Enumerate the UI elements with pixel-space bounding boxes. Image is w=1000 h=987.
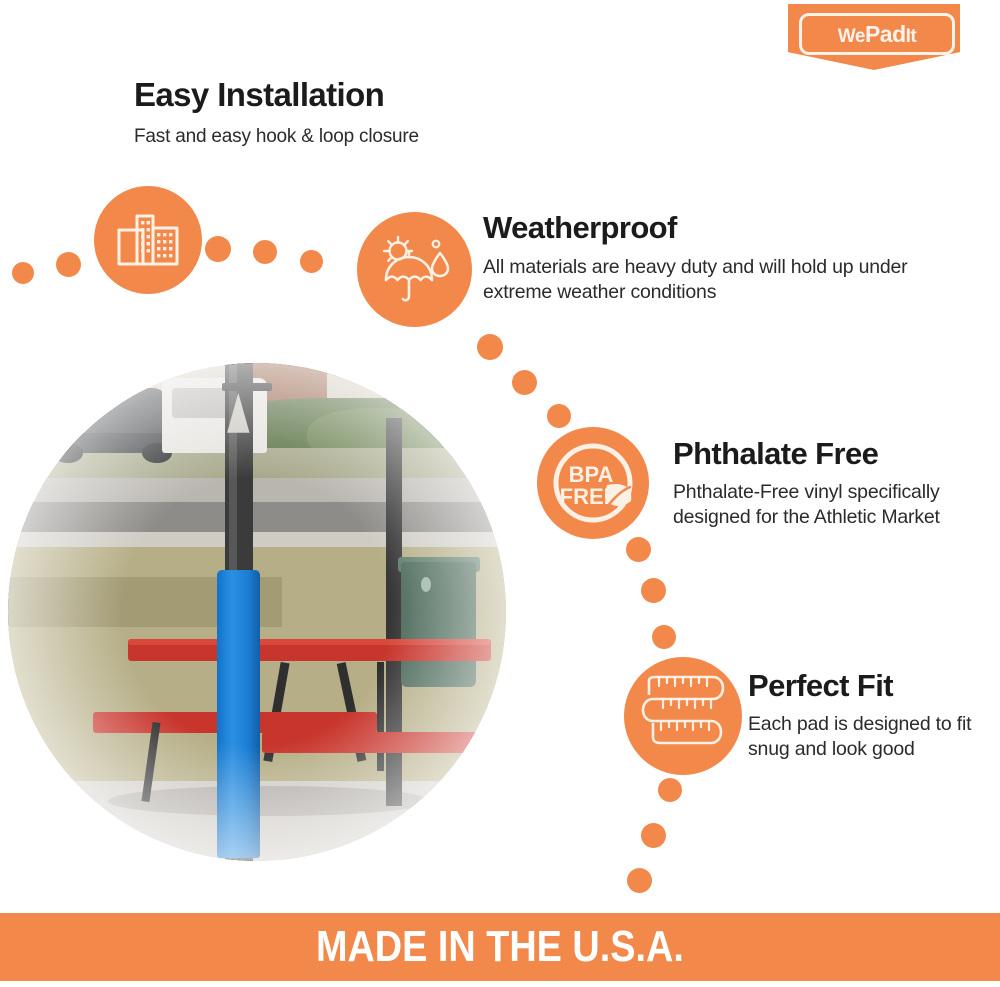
feature-title-weatherproof: Weatherproof <box>483 212 913 245</box>
logo-border-box: WePadIt <box>799 13 955 55</box>
feature-desc-weatherproof: All materials are heavy duty and will ho… <box>483 255 913 307</box>
building-installation-icon <box>94 186 202 294</box>
brand-logo: WePadIt <box>788 4 960 70</box>
logo-word-it: It <box>906 26 917 47</box>
connector-dot <box>641 578 666 603</box>
logo-word-we: We <box>838 26 865 47</box>
connector-dot <box>626 537 651 562</box>
measuring-tape-icon <box>624 657 742 775</box>
product-photo <box>8 363 506 861</box>
feature-block-weatherproof: Weatherproof All materials are heavy dut… <box>483 212 913 306</box>
made-in-usa-banner: MADE IN THE U.S.A. <box>0 913 1000 981</box>
made-in-usa-text: MADE IN THE U.S.A. <box>316 922 684 972</box>
bpa-free-leaf-icon: BPA FREE <box>537 427 649 539</box>
connector-dot <box>12 262 34 284</box>
connector-dot <box>547 404 571 428</box>
connector-dot <box>477 334 503 360</box>
connector-dot <box>641 823 666 848</box>
sun-umbrella-raindrop-icon <box>357 212 472 327</box>
feature-title-phthalate-free: Phthalate Free <box>673 438 973 471</box>
connector-dot <box>652 625 676 649</box>
feature-block-perfect-fit: Perfect Fit Each pad is designed to fit … <box>748 670 983 763</box>
feature-desc-phthalate-free: Phthalate-Free vinyl specifically design… <box>673 480 973 532</box>
feature-desc-easy-installation: Fast and easy hook & loop closure <box>134 124 554 149</box>
connector-dot <box>253 240 277 264</box>
logo-wordmark: WePadIt <box>838 23 916 46</box>
connector-dot <box>627 868 652 893</box>
feature-block-easy-installation: Easy Installation Fast and easy hook & l… <box>134 78 554 149</box>
infographic-canvas: WePadIt Easy Installation Fast and easy … <box>0 0 1000 987</box>
feature-block-phthalate-free: Phthalate Free Phthalate-Free vinyl spec… <box>673 438 973 531</box>
photo-vignette-fade <box>8 363 506 861</box>
feature-title-perfect-fit: Perfect Fit <box>748 670 983 703</box>
connector-dot <box>300 250 323 273</box>
connector-dot <box>205 236 231 262</box>
feature-title-easy-installation: Easy Installation <box>134 78 554 113</box>
connector-dot <box>658 778 682 802</box>
feature-desc-perfect-fit: Each pad is designed to fit snug and loo… <box>748 712 983 764</box>
logo-word-pad: Pad <box>865 21 906 47</box>
connector-dot <box>56 252 81 277</box>
connector-dot <box>512 370 537 395</box>
